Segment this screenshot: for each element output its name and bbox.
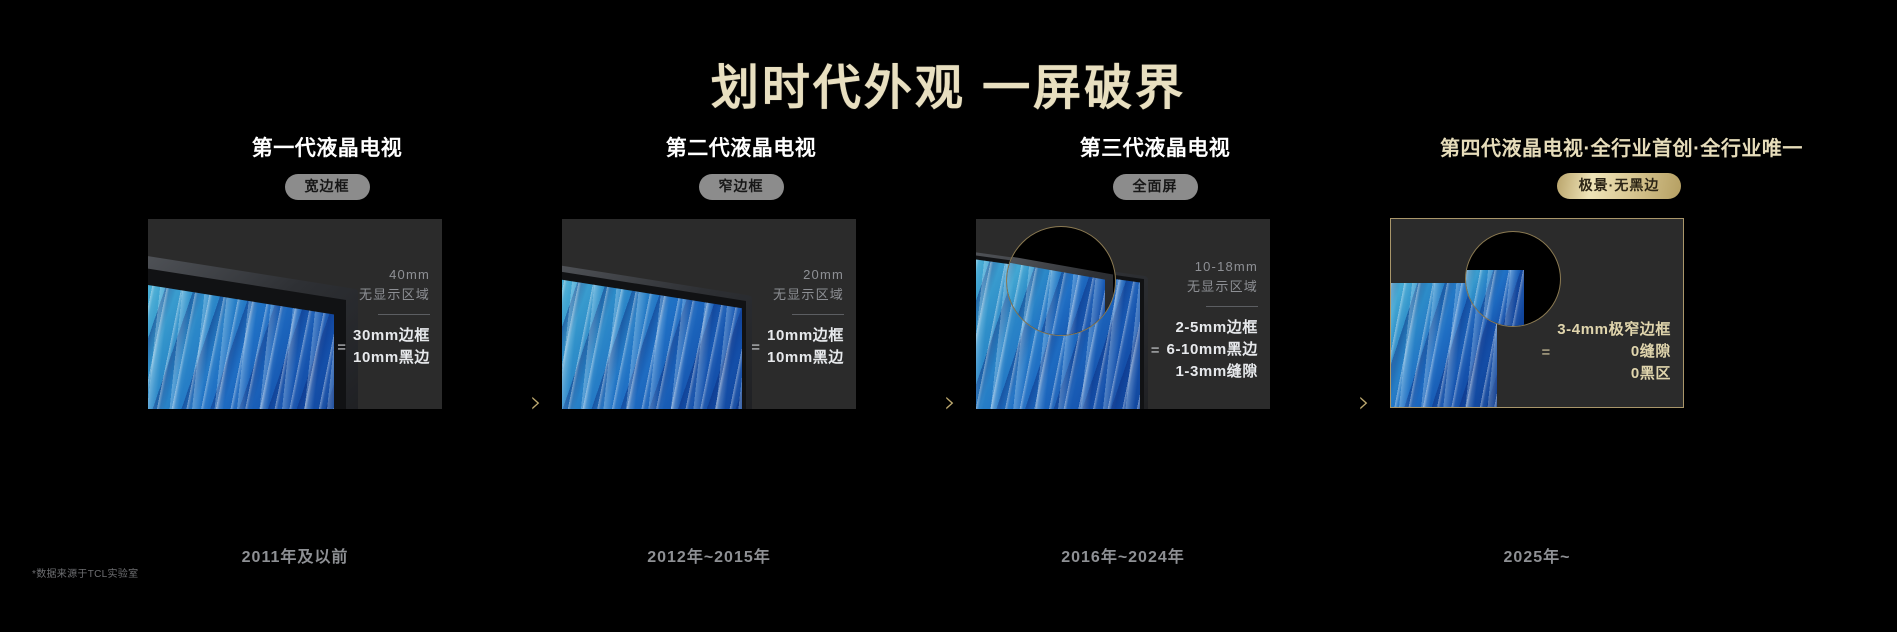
footnote: *数据来源于TCL实验室	[32, 565, 138, 580]
spec-bottom-line: 0黑区	[1557, 363, 1671, 385]
year-caption-gen2: 2012年~2015年	[562, 543, 856, 567]
chevron-right-icon: ›	[1351, 388, 1377, 418]
spec-top-value-gen2: 20mm	[684, 265, 844, 285]
year-caption-gen3: 2016年~2024年	[976, 543, 1270, 567]
spec-divider-gen1	[378, 314, 430, 315]
spec-bottom-line: 2-5mm边框	[1167, 317, 1259, 339]
status-badge-gen1: 宽边框	[285, 174, 370, 200]
spec-top-gen3: 10-18mm 无显示区域	[1083, 257, 1258, 296]
spec-block-gen1: 40mm 无显示区域 = 30mm边框 10mm黑边	[270, 265, 430, 369]
generation-comparison-grid: 第一代液晶电视 宽边框 40mm 无显示区域 = 30mm边框 10mm黑边	[0, 132, 1897, 532]
year-caption-gen4: 2025年~	[1390, 543, 1684, 567]
badge-wrap-gen3: 全面屏	[976, 174, 1334, 200]
spec-equation-gen2: = 10mm边框 10mm黑边	[684, 325, 844, 369]
column-heading-gen2: 第二代液晶电视	[562, 132, 920, 162]
year-caption-gen1: 2011年及以前	[148, 543, 442, 567]
column-heading-gen1: 第一代液晶电视	[148, 132, 506, 162]
generation-column-gen1: 第一代液晶电视 宽边框 40mm 无显示区域 = 30mm边框 10mm黑边	[148, 132, 506, 409]
spec-bottom-gen2: 10mm边框 10mm黑边	[767, 325, 844, 369]
spec-bottom-line: 6-10mm黑边	[1167, 339, 1259, 361]
spec-equation-gen4: = 3-4mm极窄边框 0缝隙 0黑区	[1486, 319, 1671, 384]
spec-bottom-line: 10mm黑边	[353, 347, 430, 369]
column-heading-gen3: 第三代液晶电视	[976, 132, 1334, 162]
spec-top-value-gen3: 10-18mm	[1083, 257, 1258, 277]
equals-icon-gen3: =	[1151, 342, 1160, 359]
spec-top-label-gen3: 无显示区域	[1083, 277, 1258, 297]
badge-wrap-gen2: 窄边框	[562, 174, 920, 200]
spec-top-value-gen1: 40mm	[270, 265, 430, 285]
spec-equation-gen3: = 2-5mm边框 6-10mm黑边 1-3mm缝隙	[1083, 317, 1258, 382]
spec-top-label-gen2: 无显示区域	[684, 285, 844, 305]
spec-divider-gen2	[792, 314, 844, 315]
generation-column-gen4: 第四代液晶电视·全行业首创·全行业唯一 极景·无黑边 = 3-4mm极窄边框 0…	[1390, 132, 1748, 408]
status-badge-gen2: 窄边框	[699, 174, 784, 200]
spec-divider-gen3	[1206, 306, 1258, 307]
page-title: 划时代外观 一屏破界	[0, 48, 1897, 118]
spec-top-label-gen1: 无显示区域	[270, 285, 430, 305]
equals-icon-gen4: =	[1541, 344, 1550, 361]
column-heading-gen4: 第四代液晶电视·全行业首创·全行业唯一	[1440, 132, 1798, 161]
status-badge-gen4: 极景·无黑边	[1557, 173, 1682, 199]
spec-top-gen2: 20mm 无显示区域	[684, 265, 844, 304]
badge-wrap-gen4: 极景·无黑边	[1440, 173, 1798, 199]
spec-bottom-line: 10mm边框	[767, 325, 844, 347]
spec-bottom-line: 30mm边框	[353, 325, 430, 347]
spec-block-gen3: 10-18mm 无显示区域 = 2-5mm边框 6-10mm黑边 1-3mm缝隙	[1083, 257, 1258, 382]
spec-bottom-gen1: 30mm边框 10mm黑边	[353, 325, 430, 369]
tv-panel-gen4: = 3-4mm极窄边框 0缝隙 0黑区	[1390, 218, 1684, 408]
equals-icon-gen1: =	[337, 339, 346, 356]
spec-bottom-gen3: 2-5mm边框 6-10mm黑边 1-3mm缝隙	[1167, 317, 1259, 382]
status-badge-gen3: 全面屏	[1113, 174, 1198, 200]
equals-icon-gen2: =	[751, 339, 760, 356]
tv-panel-gen1: 40mm 无显示区域 = 30mm边框 10mm黑边	[148, 219, 442, 409]
spec-top-gen1: 40mm 无显示区域	[270, 265, 430, 304]
spec-block-gen4: = 3-4mm极窄边框 0缝隙 0黑区	[1486, 319, 1671, 384]
magnifier-circle-gen4	[1465, 231, 1561, 327]
spec-bottom-line: 10mm黑边	[767, 347, 844, 369]
generation-column-gen2: 第二代液晶电视 窄边框 20mm 无显示区域 = 10mm边框 10mm黑边	[562, 132, 920, 409]
spec-bottom-line: 3-4mm极窄边框	[1557, 319, 1671, 341]
spec-bottom-line: 1-3mm缝隙	[1167, 361, 1259, 383]
chevron-right-icon: ›	[937, 388, 963, 418]
spec-bottom-gen4: 3-4mm极窄边框 0缝隙 0黑区	[1557, 319, 1671, 384]
spec-bottom-line: 0缝隙	[1557, 341, 1671, 363]
spec-equation-gen1: = 30mm边框 10mm黑边	[270, 325, 430, 369]
tv-panel-gen3: 10-18mm 无显示区域 = 2-5mm边框 6-10mm黑边 1-3mm缝隙	[976, 219, 1270, 409]
tv-panel-gen2: 20mm 无显示区域 = 10mm边框 10mm黑边	[562, 219, 856, 409]
chevron-right-icon: ›	[523, 388, 549, 418]
badge-wrap-gen1: 宽边框	[148, 174, 506, 200]
generation-column-gen3: 第三代液晶电视 全面屏 10-18mm 无显示区域 =	[976, 132, 1334, 409]
spec-block-gen2: 20mm 无显示区域 = 10mm边框 10mm黑边	[684, 265, 844, 369]
